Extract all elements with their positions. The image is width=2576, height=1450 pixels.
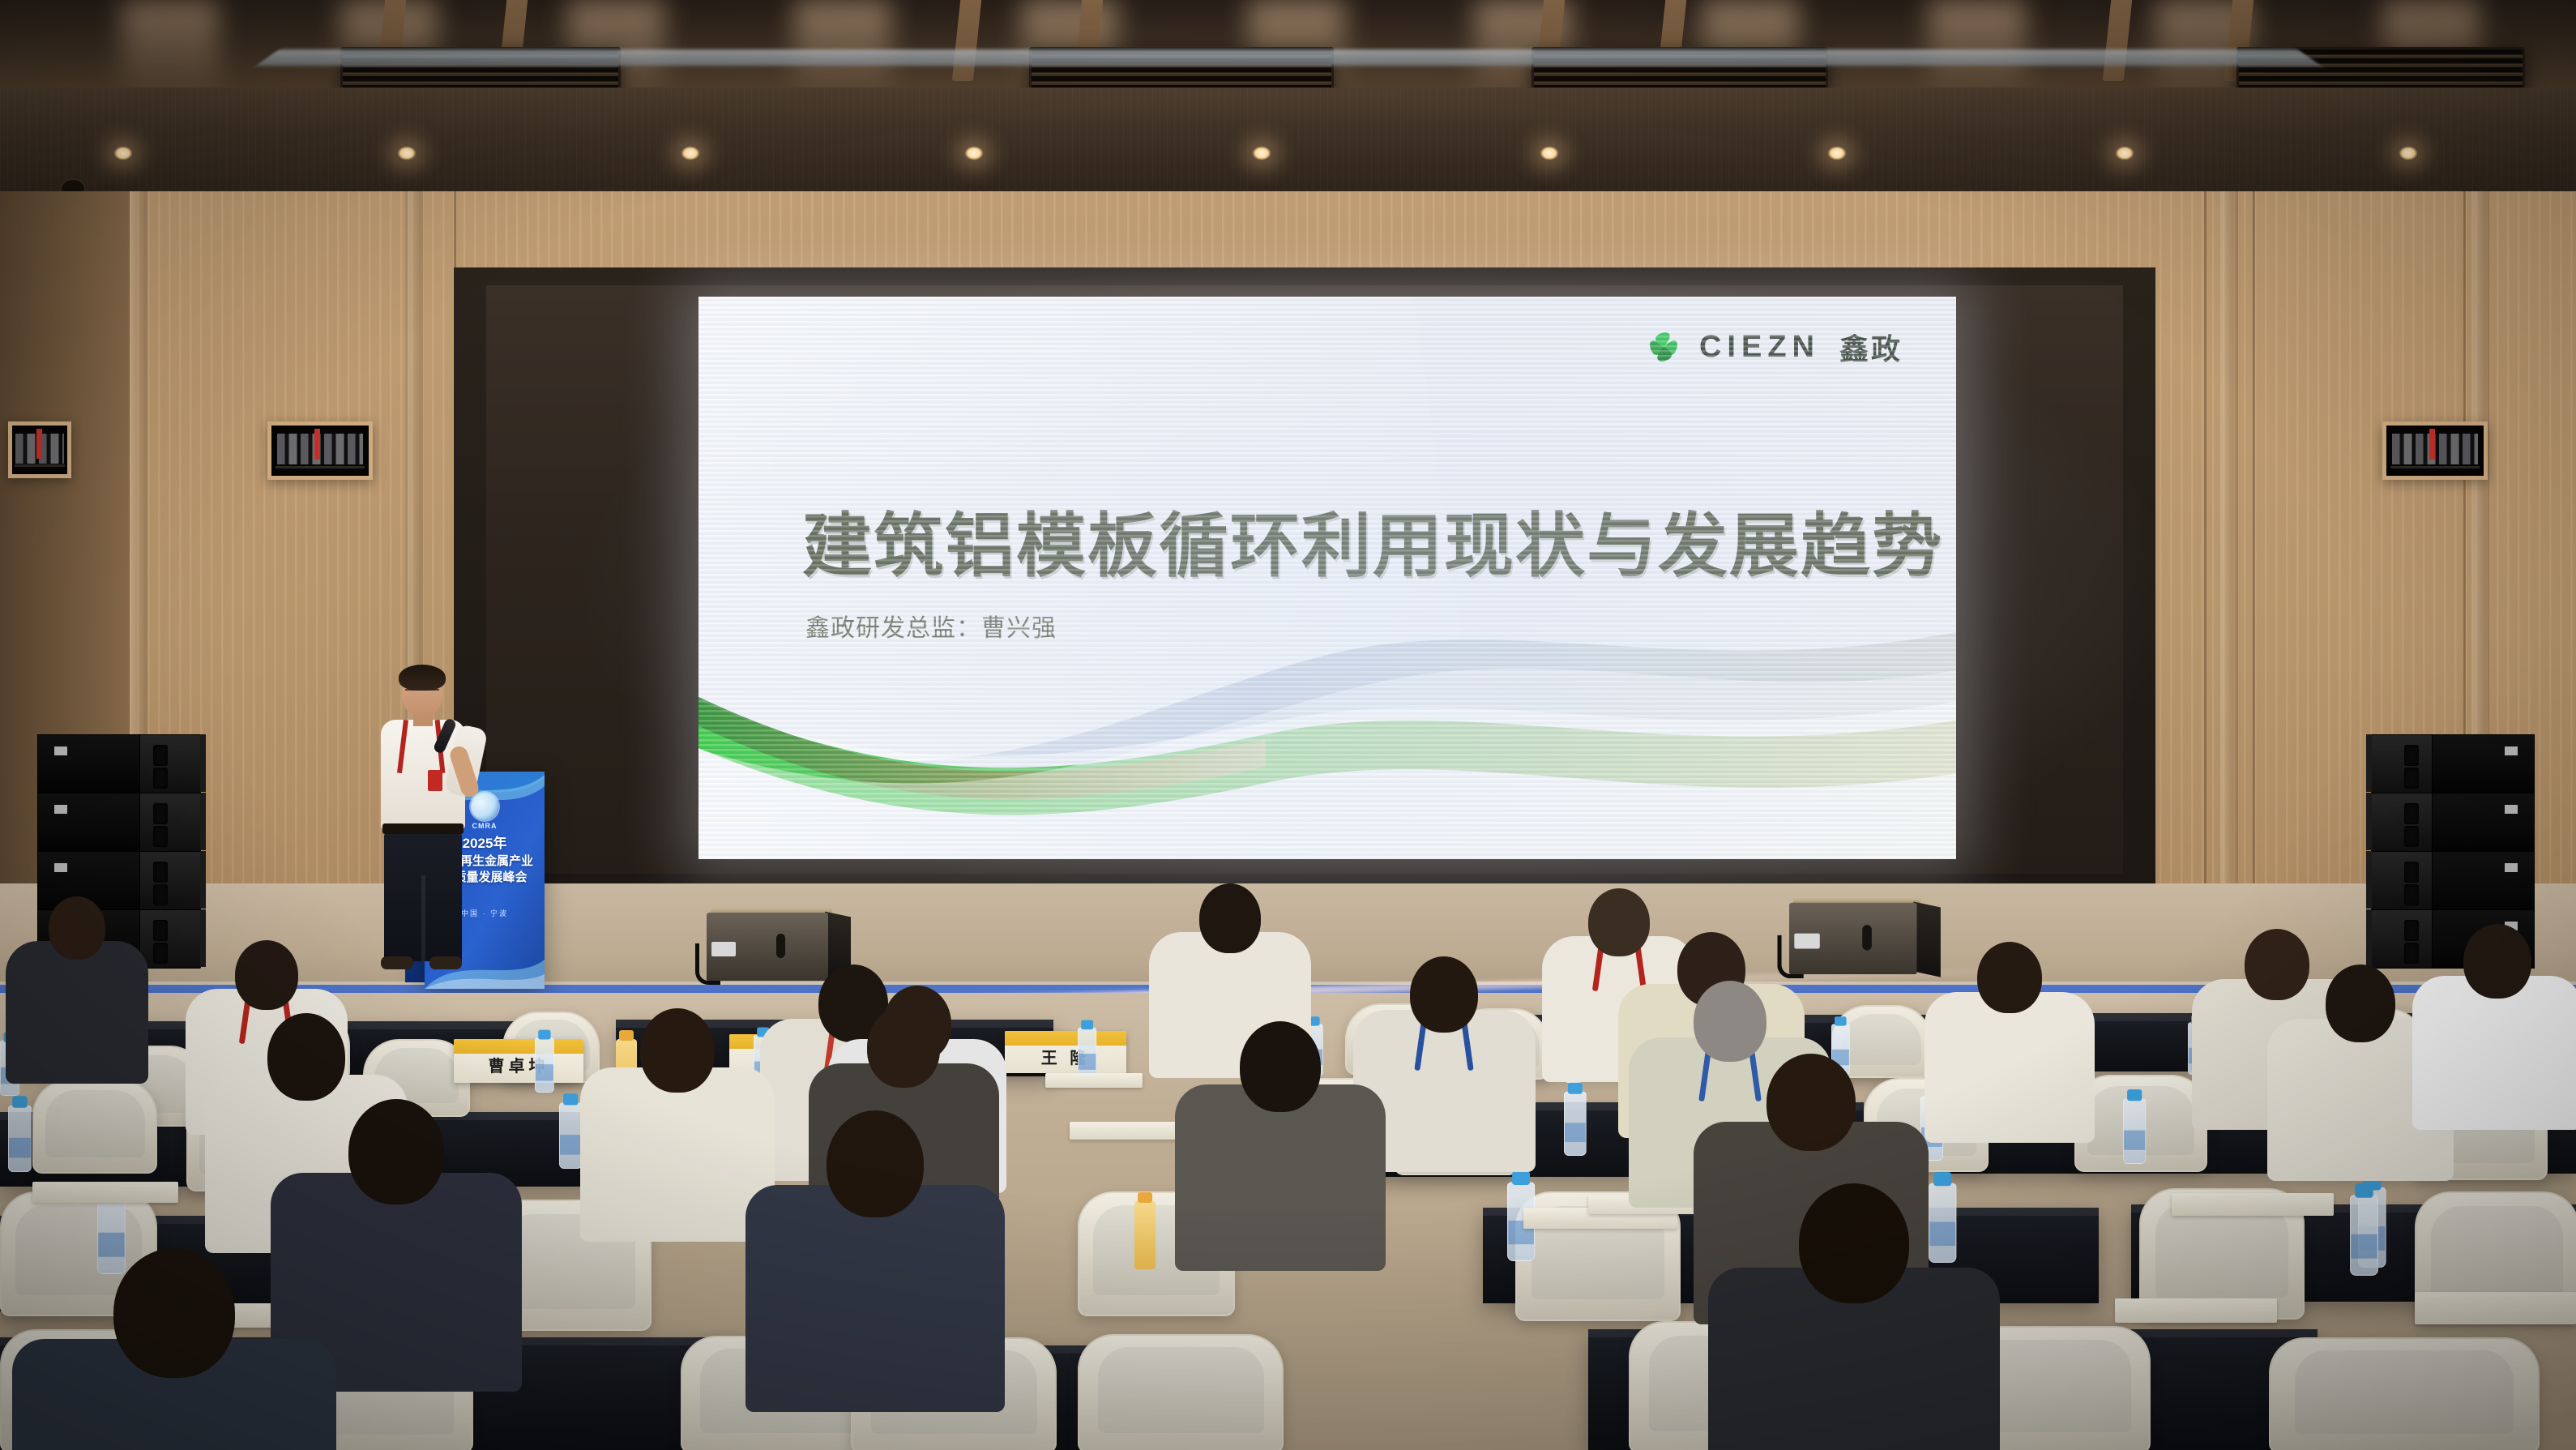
- water-bottle: [1929, 1183, 1956, 1263]
- bottle-label: [9, 1138, 31, 1158]
- monitor-handle-slot: [1862, 925, 1872, 951]
- speaker-rigging: [2366, 909, 2372, 967]
- water-bottle: [97, 1193, 126, 1274]
- name-card-name: 王 隆: [1005, 1045, 1126, 1068]
- presenter-badge: [428, 770, 442, 791]
- speaker-port: [2404, 768, 2419, 789]
- speaker-brand-badge: [2505, 746, 2518, 755]
- bottle-label: [536, 1064, 553, 1080]
- water-bottle: [2350, 1195, 2378, 1276]
- bottle-label: [1079, 1054, 1096, 1070]
- bottle-cap: [1081, 1020, 1093, 1029]
- audience-member-head: [1199, 883, 1261, 953]
- water-bottle: [1564, 1092, 1587, 1156]
- line-array-front-grille: [2371, 909, 2433, 969]
- bottle-cap: [1835, 1016, 1847, 1025]
- bottle-label: [2351, 1234, 2377, 1259]
- line-array-module: [2426, 793, 2535, 852]
- speaker-port: [153, 884, 168, 905]
- line-array-front-grille: [139, 909, 201, 969]
- stage-monitor-speaker: [1789, 891, 1941, 974]
- monitor-handle-slot: [776, 934, 785, 958]
- bottle-cap: [538, 1030, 550, 1040]
- speaker-port: [153, 920, 168, 941]
- line-array-front-grille: [2371, 851, 2433, 910]
- line-array-module: [37, 734, 146, 793]
- speaker-brand-badge: [54, 746, 67, 755]
- ceiling-downlight: [2115, 146, 2134, 160]
- ceiling-light-wash: [1929, 0, 2026, 97]
- presenter-hair: [399, 665, 446, 691]
- ceiling-downlight: [1252, 146, 1271, 160]
- cmra-logo-icon: [471, 793, 498, 820]
- speaker-rigging: [2366, 734, 2372, 792]
- ceiling-downlight: [2399, 146, 2418, 160]
- speaker-rigging: [2366, 851, 2372, 909]
- audience-member-head: [1410, 956, 1478, 1033]
- line-array-front-grille: [2371, 793, 2433, 852]
- speaker-rigging: [200, 734, 206, 792]
- speaker-port: [2404, 920, 2419, 941]
- speaker-port: [153, 943, 168, 964]
- printed-programme: [2172, 1193, 2334, 1216]
- water-bottle: [559, 1102, 583, 1169]
- water-bottle: [535, 1037, 554, 1093]
- juice-bottle: [1134, 1201, 1156, 1269]
- water-bottle: [8, 1106, 32, 1172]
- printed-programme: [1070, 1122, 1191, 1140]
- speaker-brand-badge: [54, 805, 67, 814]
- speaker-brand-badge: [2505, 805, 2518, 814]
- line-array-module: [2426, 734, 2535, 793]
- bottle-cap: [2355, 1183, 2373, 1198]
- speaker-rigging: [200, 909, 206, 967]
- line-array-front-grille: [139, 734, 201, 793]
- printed-programme: [2115, 1298, 2277, 1323]
- bottle-cap: [12, 1096, 28, 1107]
- speaker-port: [2404, 803, 2419, 824]
- audience-member-head: [1694, 981, 1766, 1062]
- stage-monitor-speaker: [707, 901, 851, 981]
- presenter-shoe-right: [429, 956, 462, 969]
- conference-hall-photo: CIEZN 鑫政 建筑铝模板循环利用现状与发展趋势 鑫政研发总监：曹兴强: [0, 0, 2576, 1450]
- presenter-glasses-icon: [405, 689, 439, 699]
- wall-pilaster: [2220, 191, 2238, 994]
- printed-programme: [1045, 1073, 1143, 1088]
- name-card-header-band: [454, 1039, 583, 1054]
- water-bottle: [2123, 1098, 2146, 1164]
- speaker-port: [2404, 943, 2419, 964]
- niche-red-accent: [314, 429, 320, 460]
- speaker-port: [2404, 826, 2419, 847]
- audience-member-head: [2326, 965, 2395, 1042]
- speaker-rigging: [200, 851, 206, 909]
- ceiling-downlight: [681, 146, 700, 160]
- audience-member-head: [113, 1248, 235, 1378]
- niche-red-accent: [36, 429, 42, 459]
- ceiling-downlight: [397, 146, 417, 160]
- line-array-front-grille: [139, 851, 201, 910]
- line-array-module: [37, 793, 146, 852]
- bottle-cap: [1568, 1083, 1583, 1094]
- wall-niche: [2382, 421, 2488, 480]
- delegate-name-card: 曹卓坤: [454, 1039, 583, 1083]
- monitor-side: [1913, 901, 1941, 977]
- audience-member-head: [1977, 942, 2042, 1013]
- audience-member-head: [1766, 1054, 1856, 1151]
- niche-shelf: [276, 466, 365, 468]
- bottle-label: [98, 1233, 125, 1257]
- audience-member-head: [827, 1110, 924, 1217]
- audience-member-head: [1588, 888, 1650, 956]
- ceiling-downlight: [1540, 146, 1559, 160]
- niche-shelf: [2390, 466, 2480, 468]
- audience-member-head: [867, 1007, 940, 1088]
- bottle-label: [560, 1135, 582, 1154]
- bottle-cap: [2127, 1089, 2142, 1101]
- conference-chair: [1078, 1334, 1284, 1450]
- speaker-port: [2404, 745, 2419, 766]
- audience-member-torso: [1925, 992, 2095, 1143]
- speaker-brand-badge: [54, 863, 67, 872]
- speaker-brand-badge: [2505, 863, 2518, 872]
- printed-programme: [32, 1182, 178, 1203]
- niche-red-accent: [2429, 429, 2435, 460]
- presenter-shoe-left: [381, 956, 413, 969]
- audience-member-head: [2245, 929, 2309, 1000]
- bottle-cap: [619, 1030, 634, 1041]
- audience-member-torso: [6, 941, 148, 1084]
- audience-member-torso: [2412, 976, 2576, 1130]
- bottle-cap: [563, 1093, 578, 1105]
- delegate-name-card: 王 隆: [1005, 1031, 1126, 1073]
- audience-member-head: [267, 1013, 345, 1101]
- monitor-cable: [1777, 935, 1804, 979]
- conference-chair: [2269, 1337, 2540, 1450]
- wall-niche: [8, 421, 71, 478]
- bottle-label: [1565, 1123, 1586, 1142]
- printed-programme: [2415, 1292, 2576, 1324]
- conference-chair: [32, 1080, 157, 1174]
- niche-shelf: [15, 464, 66, 467]
- bottle-cap: [1138, 1192, 1152, 1203]
- wall-seam: [2253, 191, 2255, 994]
- audience-member-head: [49, 896, 105, 960]
- monitor-cable: [695, 943, 720, 985]
- audience-member-head: [235, 940, 298, 1010]
- name-card-name: 曹卓坤: [454, 1053, 583, 1076]
- speaker-port: [2404, 862, 2419, 883]
- audience-member-head: [1240, 1021, 1321, 1112]
- speaker-port: [153, 862, 168, 883]
- wall-seam: [2204, 191, 2206, 994]
- speaker-port: [153, 826, 168, 847]
- speaker-port: [153, 768, 168, 789]
- bottle-cap: [1933, 1172, 1951, 1186]
- bottle-cap: [1512, 1171, 1530, 1185]
- ceiling-light-wash: [794, 0, 891, 97]
- speaker-port: [2404, 884, 2419, 905]
- ceiling-downlight: [1827, 146, 1847, 160]
- ceiling-plane: [0, 88, 2576, 203]
- audience-member-head: [1799, 1183, 1909, 1303]
- speaker-rigging: [2366, 793, 2372, 850]
- audience-member-torso: [1175, 1084, 1386, 1271]
- speaker-rigging: [200, 793, 206, 850]
- speaker-port: [153, 745, 168, 766]
- ceiling-downlight: [113, 146, 133, 160]
- audience-member-torso: [745, 1185, 1005, 1412]
- line-array-front-grille: [139, 793, 201, 852]
- line-array-module: [2426, 851, 2535, 910]
- audience-member-head: [2463, 924, 2531, 999]
- line-array-front-grille: [2371, 734, 2433, 793]
- presentation-screen: CIEZN 鑫政 建筑铝模板循环利用现状与发展趋势 鑫政研发总监：曹兴强: [698, 297, 1956, 859]
- ceiling-light-strip: [256, 49, 2322, 66]
- audience-member-head: [640, 1008, 715, 1093]
- ceiling-downlight: [964, 146, 984, 160]
- presenter-leg-split: [421, 875, 425, 961]
- bottle-label: [2124, 1131, 2145, 1150]
- led-scanline-overlay: [698, 297, 1956, 859]
- audience-member-head: [348, 1099, 444, 1204]
- speaker-port: [153, 803, 168, 824]
- wall-niche: [267, 421, 373, 480]
- ceiling-light-wash: [122, 0, 219, 97]
- presenter-belt: [382, 823, 464, 834]
- bottle-label: [1929, 1222, 1955, 1247]
- name-card-header-band: [1005, 1031, 1126, 1046]
- cmra-logo-label: CMRA: [472, 822, 498, 830]
